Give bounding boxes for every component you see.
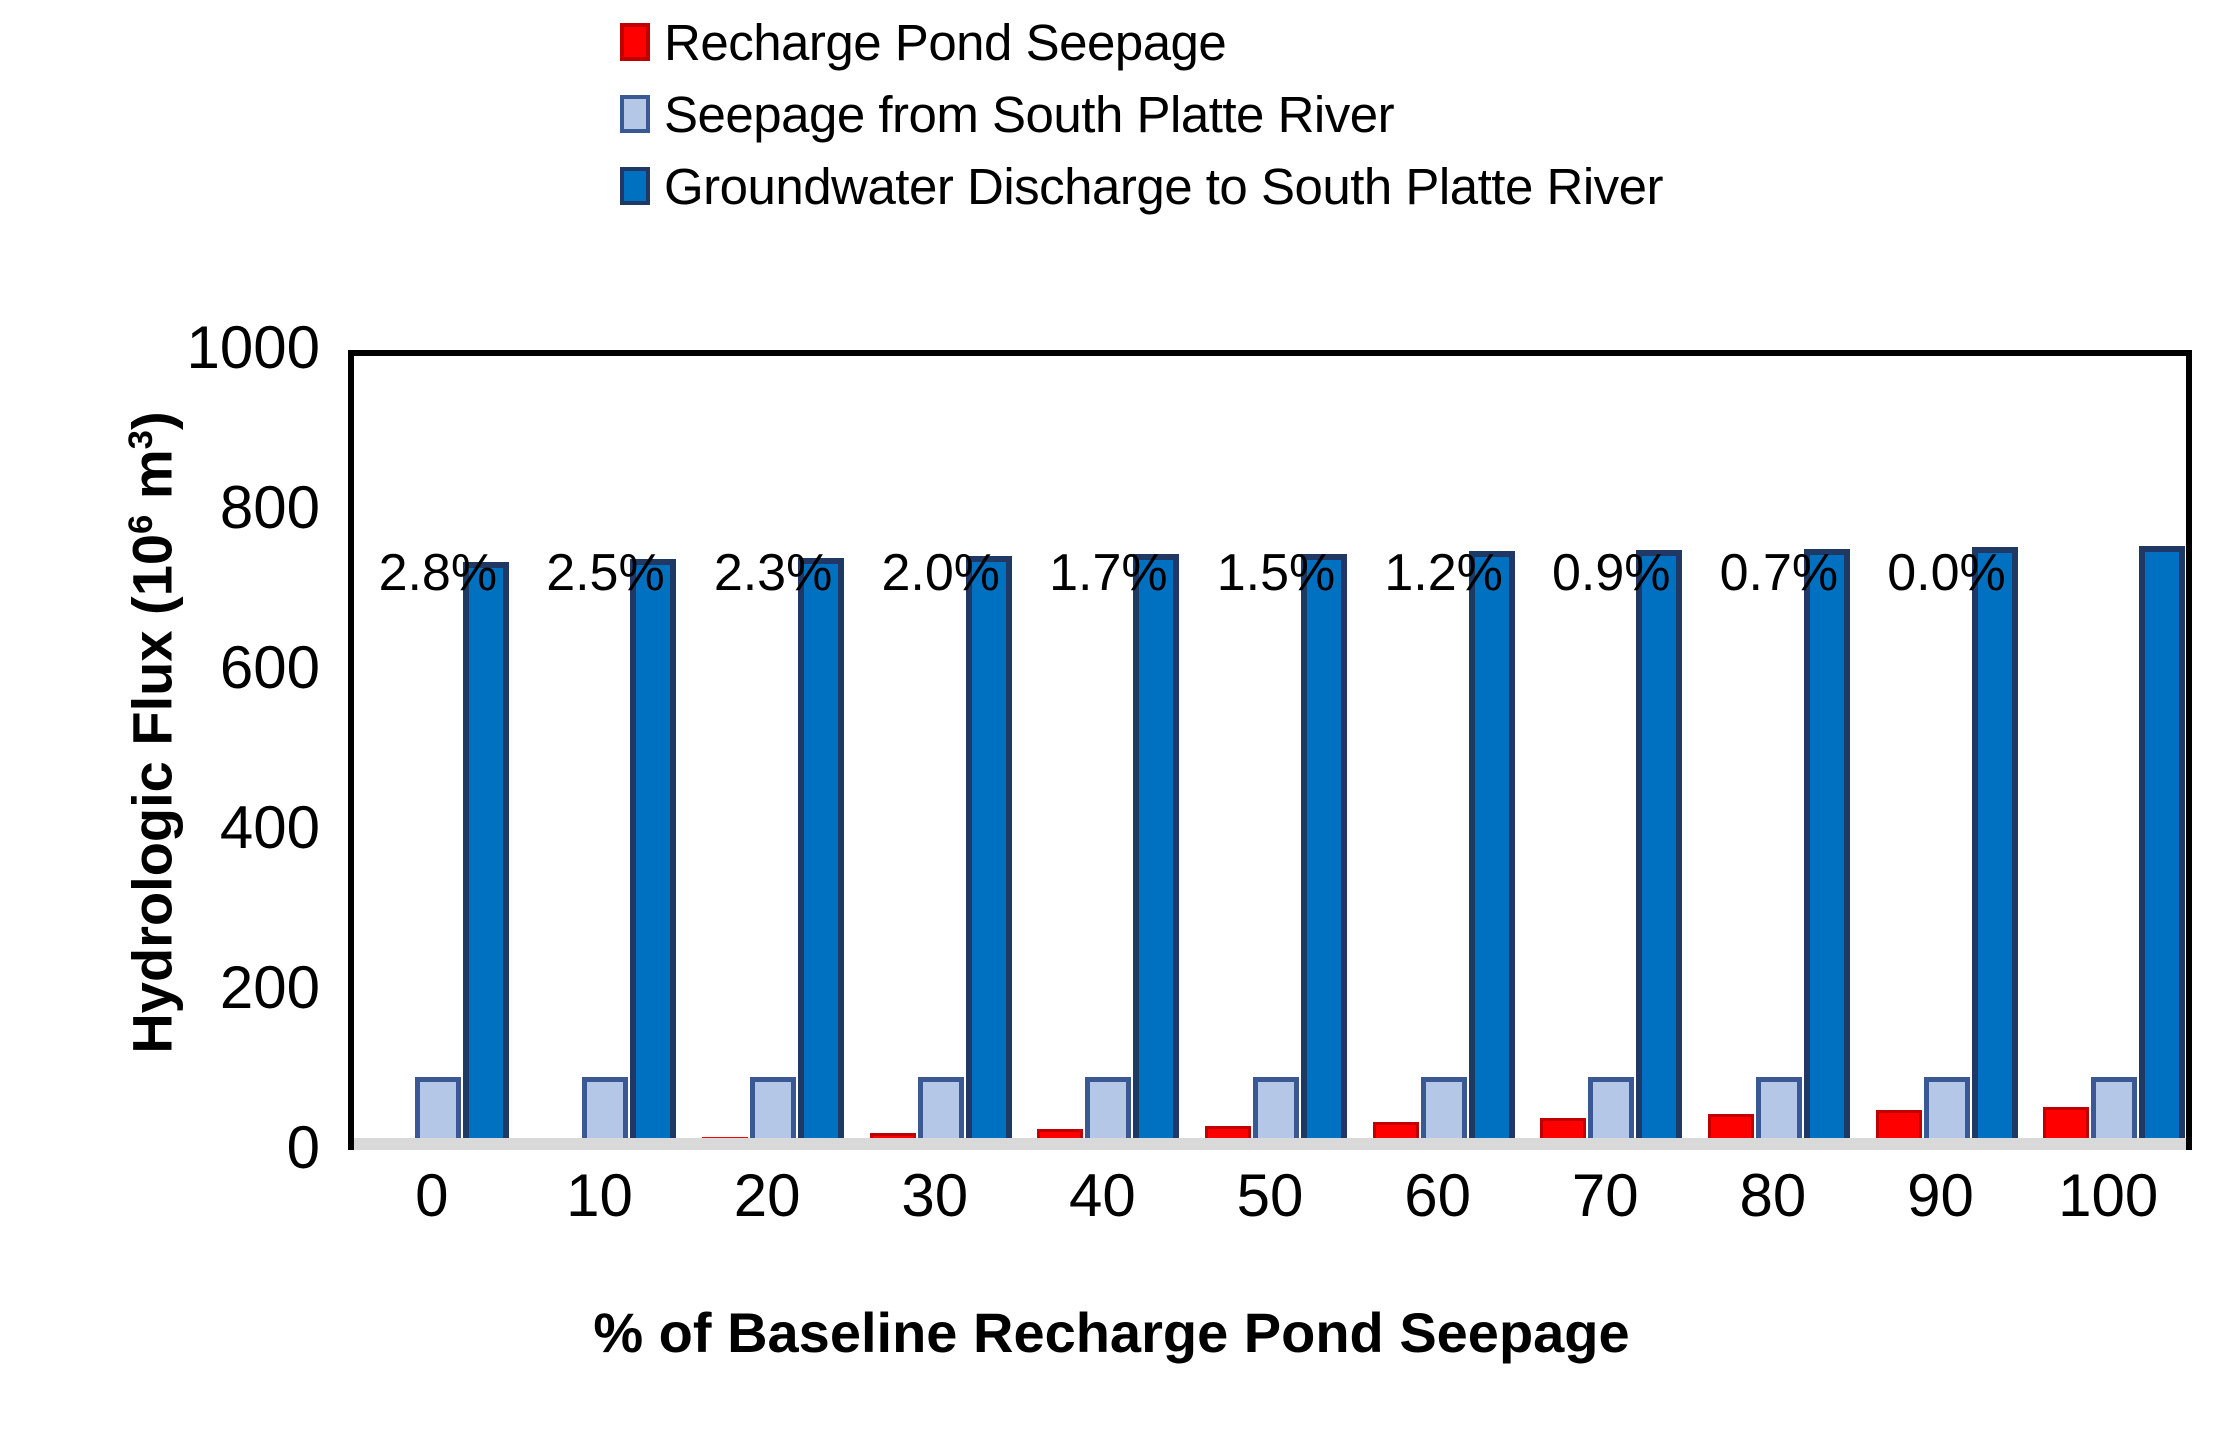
- bar-series-2-category-20[interactable]: [798, 558, 844, 1144]
- bar-series-1-category-40[interactable]: [1085, 1077, 1131, 1144]
- bar-series-1-category-20[interactable]: [750, 1077, 796, 1144]
- x-tick-label-100: 100: [2008, 1166, 2208, 1226]
- chart-legend: Recharge Pond Seepage Seepage from South…: [620, 6, 2120, 222]
- y-axis-title-main: Hydrologic Flux (10: [121, 534, 184, 1054]
- bars-container: 2.8%2.5%2.3%2.0%1.7%1.5%1.2%0.9%0.7%0.0%: [354, 356, 2186, 1144]
- bar-series-1-category-10[interactable]: [582, 1077, 628, 1144]
- legend-swatch-icon-series-1: [620, 95, 650, 133]
- bar-series-2-category-40[interactable]: [1133, 554, 1179, 1144]
- y-axis-title: Hydrologic Flux (106 m3): [120, 333, 185, 1133]
- data-label: 2.0%: [846, 547, 1036, 599]
- bar-series-2-category-90[interactable]: [1972, 547, 2018, 1144]
- legend-label-series-2: Groundwater Discharge to South Platte Ri…: [664, 161, 1663, 212]
- bar-series-2-category-10[interactable]: [630, 559, 676, 1144]
- data-label: 2.3%: [678, 547, 868, 599]
- data-label: 1.7%: [1013, 547, 1203, 599]
- y-tick-label-400: 400: [80, 798, 320, 858]
- bar-group: [2043, 356, 2185, 1144]
- bar-series-2-category-0[interactable]: [463, 562, 509, 1144]
- bar-group: [367, 356, 509, 1144]
- x-axis-tick-labels: 0102030405060708090100: [348, 1166, 2192, 1256]
- bar-series-1-category-100[interactable]: [2091, 1077, 2137, 1144]
- bar-series-2-category-70[interactable]: [1636, 550, 1682, 1144]
- bar-group: [1540, 356, 1682, 1144]
- data-label: 1.5%: [1181, 547, 1371, 599]
- data-label: 2.5%: [510, 547, 700, 599]
- bar-series-2-category-100[interactable]: [2139, 546, 2185, 1144]
- bar-series-1-category-60[interactable]: [1421, 1077, 1467, 1144]
- y-tick-label-600: 600: [80, 638, 320, 698]
- bar-group: [1708, 356, 1850, 1144]
- y-tick-label-200: 200: [80, 958, 320, 1018]
- y-axis-title-exponent-3: 3: [122, 430, 160, 449]
- bar-series-1-category-50[interactable]: [1253, 1077, 1299, 1144]
- data-label: 0.7%: [1684, 547, 1874, 599]
- bar-series-2-category-30[interactable]: [966, 556, 1012, 1144]
- plot-area: 2.8%2.5%2.3%2.0%1.7%1.5%1.2%0.9%0.7%0.0%: [348, 350, 2192, 1150]
- y-axis-title-end: ): [121, 411, 184, 430]
- x-axis-title: % of Baseline Recharge Pond Seepage: [0, 1300, 2223, 1365]
- bar-series-1-category-90[interactable]: [1924, 1077, 1970, 1144]
- legend-item-groundwater-discharge-to-south-platte-river[interactable]: Groundwater Discharge to South Platte Ri…: [620, 150, 2120, 222]
- bar-group: [534, 356, 676, 1144]
- bar-group: [1876, 356, 2018, 1144]
- legend-swatch-icon-series-2: [620, 167, 650, 205]
- bar-series-1-category-0[interactable]: [415, 1077, 461, 1144]
- bar-series-2-category-80[interactable]: [1804, 549, 1850, 1144]
- data-label: 1.2%: [1349, 547, 1539, 599]
- data-label: 2.8%: [343, 547, 533, 599]
- bar-series-1-category-80[interactable]: [1756, 1077, 1802, 1144]
- bar-series-1-category-30[interactable]: [918, 1077, 964, 1144]
- data-label: 0.0%: [1852, 547, 2042, 599]
- y-tick-label-1000: 1000: [80, 318, 320, 378]
- y-tick-label-0: 0: [80, 1118, 320, 1178]
- y-tick-label-800: 800: [80, 478, 320, 538]
- bar-group: [870, 356, 1012, 1144]
- bar-group: [1037, 356, 1179, 1144]
- bar-group: [1373, 356, 1515, 1144]
- bar-group: [702, 356, 844, 1144]
- bar-group: [1205, 356, 1347, 1144]
- y-axis-title-exponent-6: 6: [122, 515, 160, 534]
- bar-series-2-category-50[interactable]: [1301, 554, 1347, 1144]
- legend-item-recharge-pond-seepage[interactable]: Recharge Pond Seepage: [620, 6, 2120, 78]
- legend-label-series-0: Recharge Pond Seepage: [664, 17, 1226, 68]
- legend-label-series-1: Seepage from South Platte River: [664, 89, 1394, 140]
- bar-series-2-category-60[interactable]: [1469, 551, 1515, 1144]
- zero-baseline: [354, 1138, 2186, 1150]
- legend-swatch-icon-series-0: [620, 23, 650, 61]
- legend-item-seepage-from-south-platte-river[interactable]: Seepage from South Platte River: [620, 78, 2120, 150]
- bar-series-1-category-70[interactable]: [1588, 1077, 1634, 1144]
- y-axis-title-mid: m: [121, 449, 184, 514]
- data-label: 0.9%: [1516, 547, 1706, 599]
